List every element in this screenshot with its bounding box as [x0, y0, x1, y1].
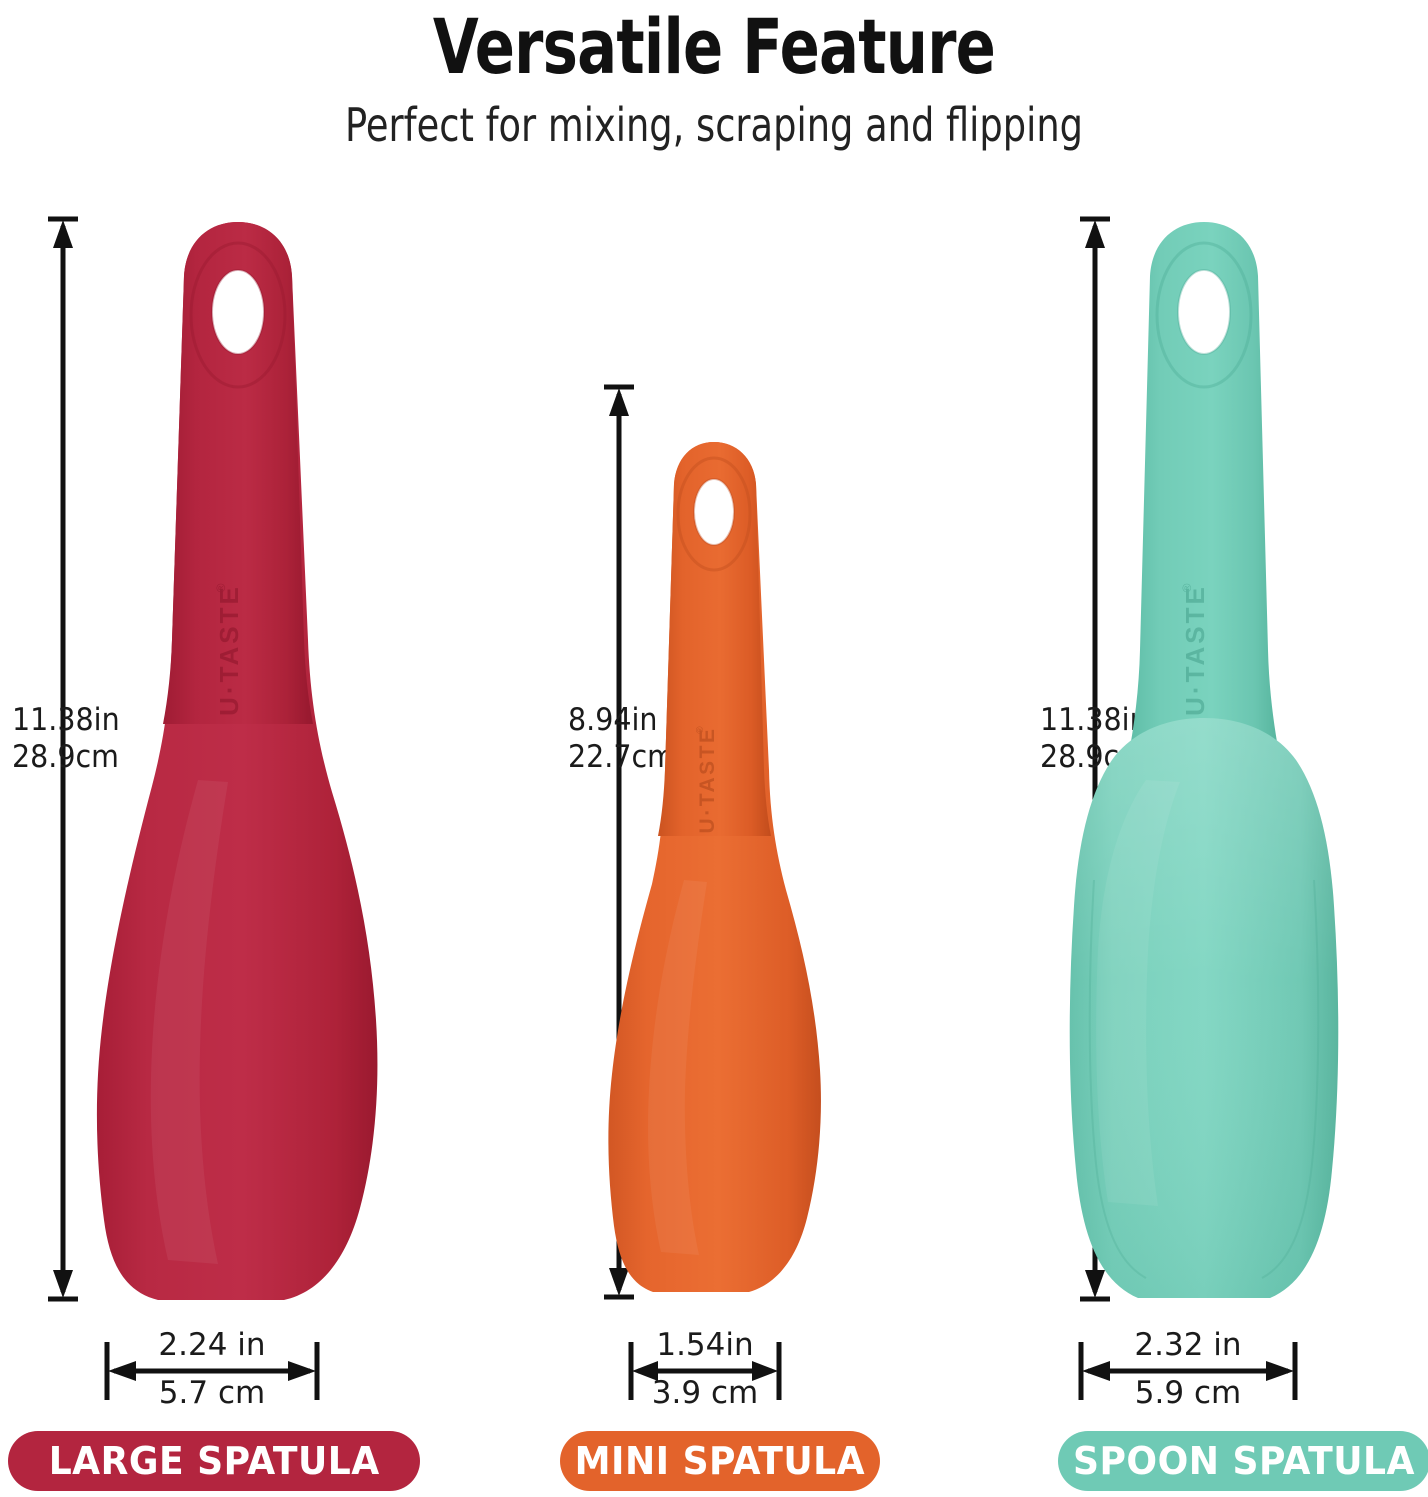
product-column-mini-spatula: 8.94in 22.7cm: [476, 0, 952, 1497]
brand-emboss-spoon-spatula: U·TASTE: [1180, 584, 1210, 716]
width-dimension-spoon-spatula: 2.32 in 5.9 cm: [1078, 1336, 1298, 1406]
large-spatula-illustration: U·TASTE ®: [0, 220, 476, 1310]
width-cm-spoon-spatula: 5.9 cm: [1078, 1376, 1298, 1410]
product-badge-label-large-spatula: LARGE SPATULA: [49, 1439, 380, 1483]
product-column-spoon-spatula: 11.38in 28.9cm: [952, 0, 1428, 1497]
width-dimension-mini-spatula: 1.54in 3.9 cm: [628, 1336, 782, 1406]
product-badge-spoon-spatula[interactable]: SPOON SPATULA: [1058, 1431, 1428, 1491]
width-cm-mini-spatula: 3.9 cm: [628, 1376, 782, 1410]
svg-text:®: ®: [1180, 583, 1194, 592]
brand-emboss-mini-spatula: U·TASTE: [696, 727, 719, 834]
product-badge-large-spatula[interactable]: LARGE SPATULA: [8, 1431, 420, 1491]
width-dimension-large-spatula: 2.24 in 5.7 cm: [104, 1336, 320, 1406]
mini-spatula-illustration: U·TASTE ®: [476, 440, 952, 1302]
product-column-large-spatula: 11.38in 28.9cm: [0, 0, 476, 1497]
svg-text:®: ®: [695, 726, 706, 734]
width-cm-large-spatula: 5.7 cm: [104, 1376, 320, 1410]
svg-text:®: ®: [214, 583, 228, 592]
spoon-spatula-illustration: U·TASTE ®: [980, 220, 1428, 1310]
product-badge-label-spoon-spatula: SPOON SPATULA: [1073, 1439, 1415, 1483]
product-badge-label-mini-spatula: MINI SPATULA: [575, 1439, 865, 1483]
product-badge-mini-spatula[interactable]: MINI SPATULA: [560, 1431, 880, 1491]
brand-emboss-large-spatula: U·TASTE: [214, 584, 244, 716]
